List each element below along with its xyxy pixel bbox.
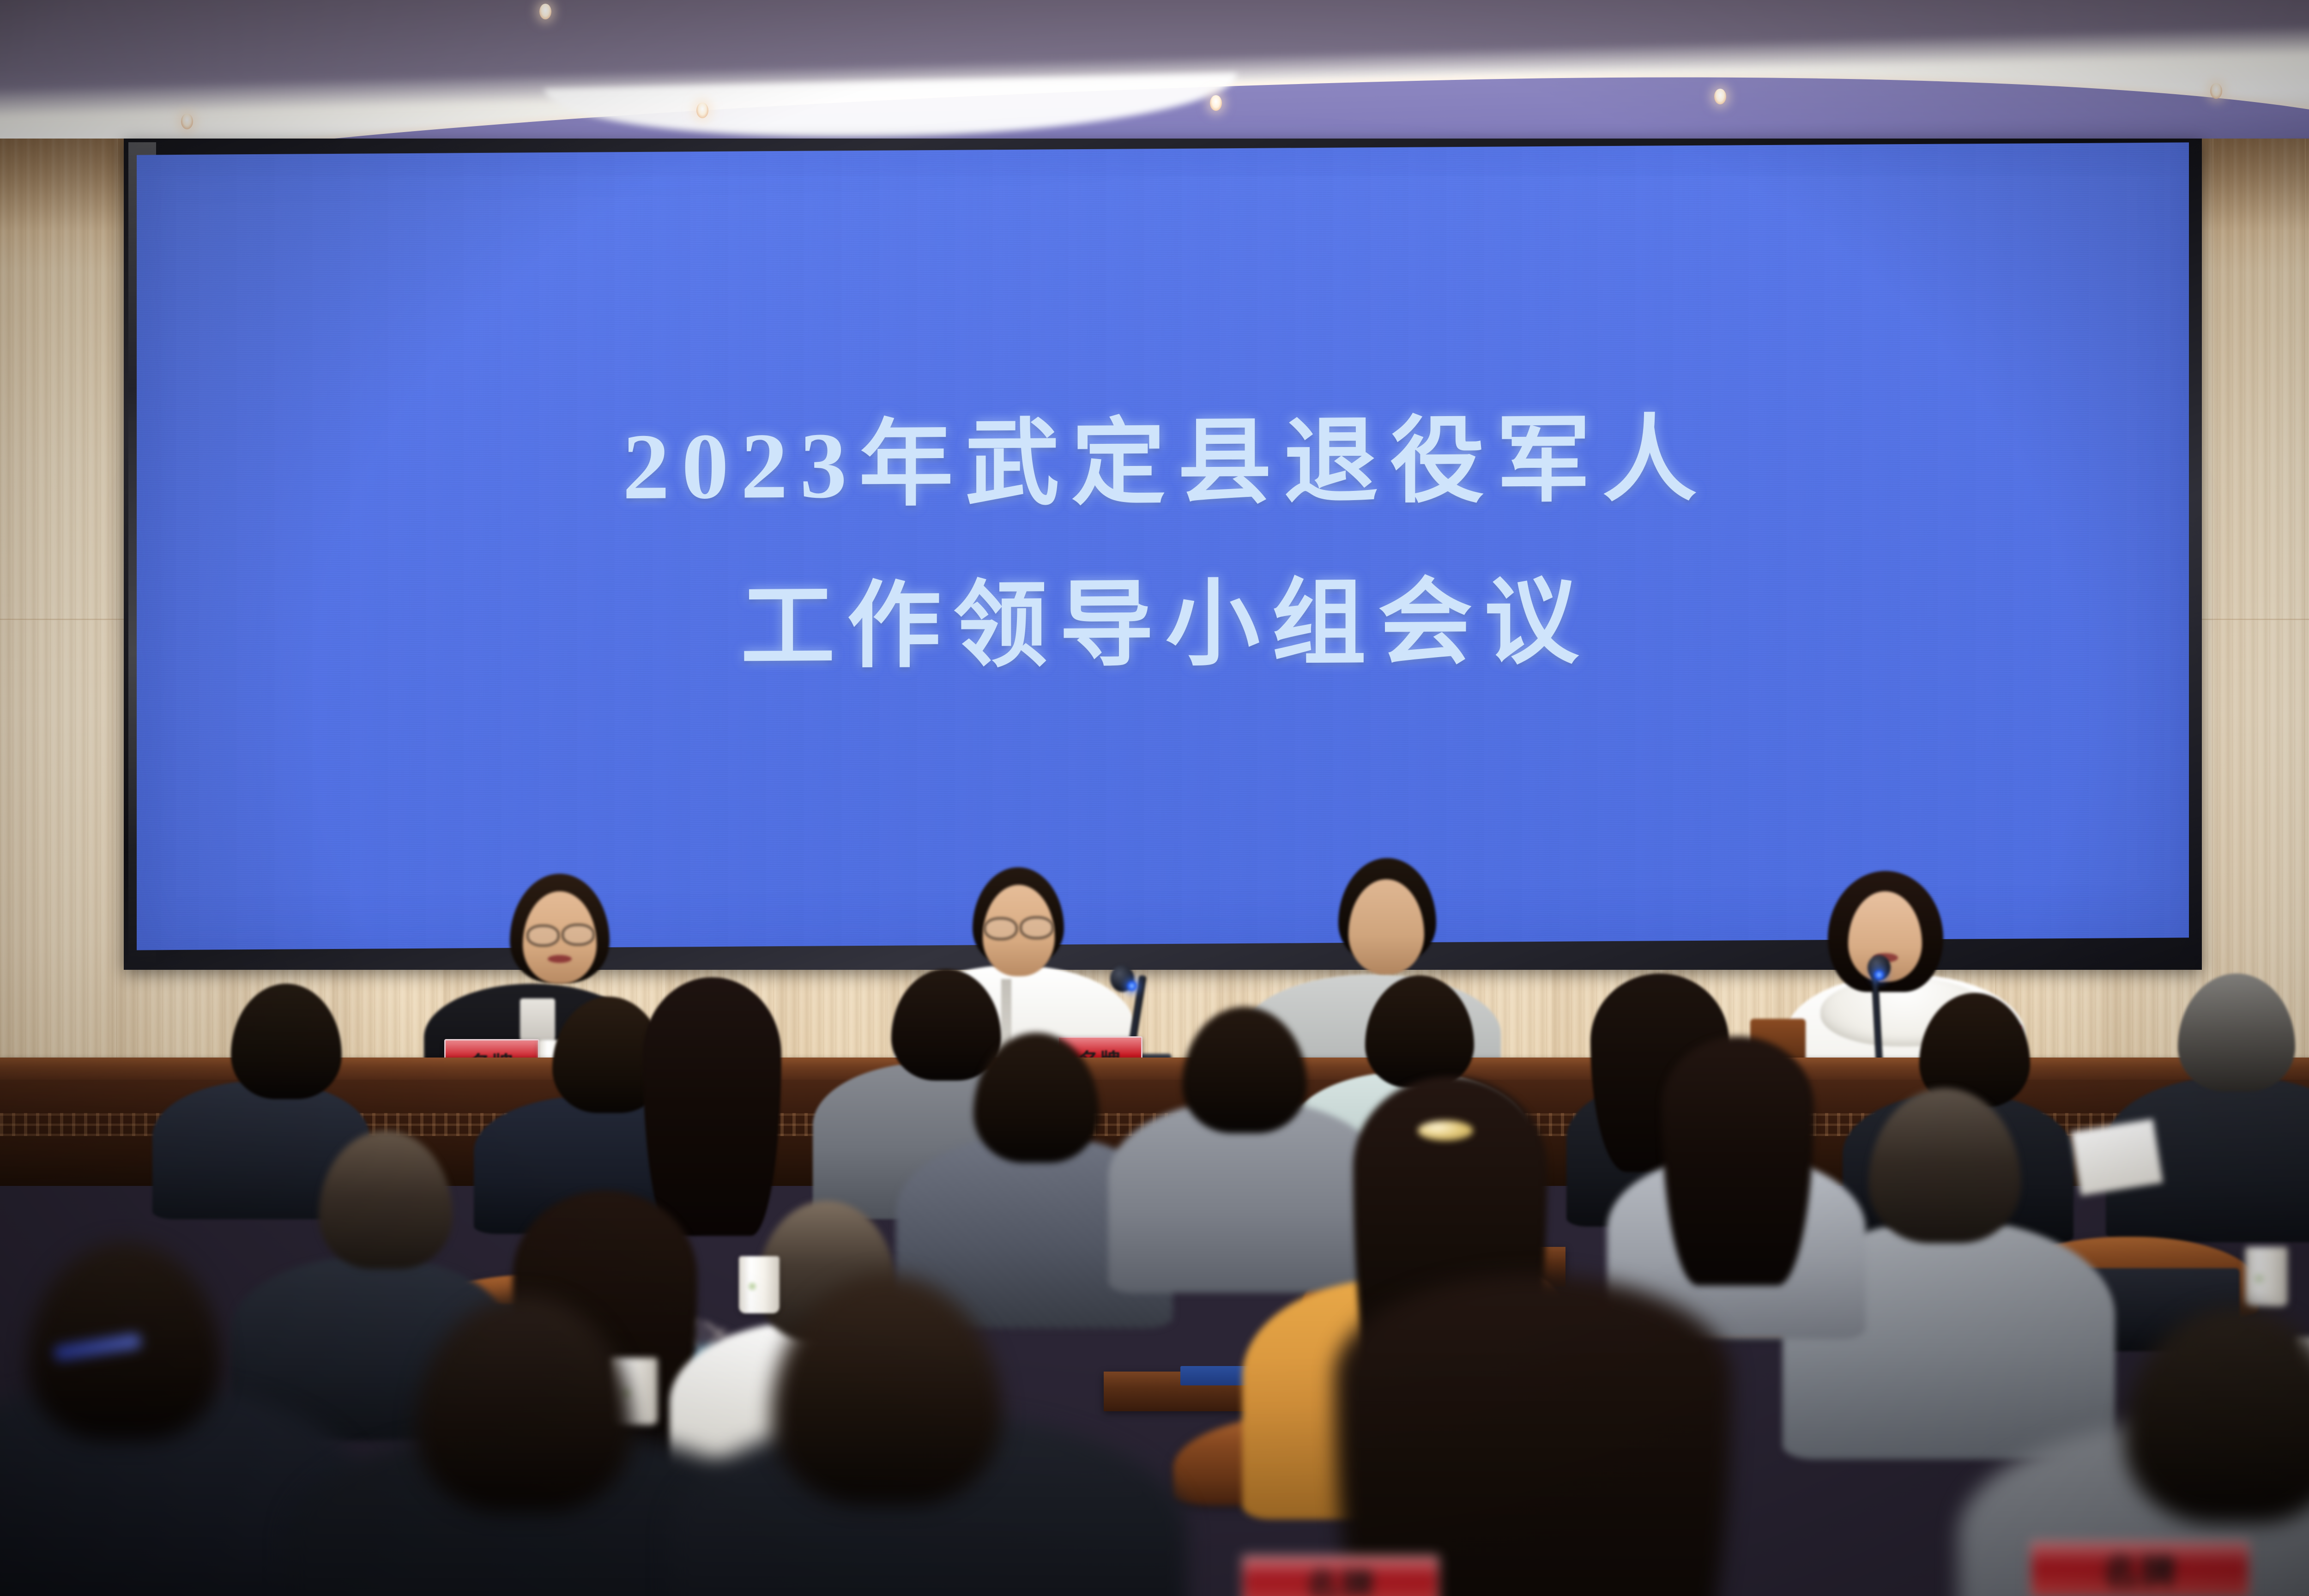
attendee-longhair — [643, 977, 781, 1236]
banner-line-1: 2023年武定县退役军人 — [623, 384, 1709, 543]
screen-banner-text: 2023年武定县退役军人 工作领导小组会议 — [137, 142, 2189, 950]
conference-room-photo: 2023年武定县退役军人 工作领导小组会议 名牌 名牌 — [0, 0, 2309, 1596]
eyeglasses-icon — [984, 917, 1018, 940]
banner-line-2: 工作领导小组会议 — [741, 546, 1590, 704]
lip — [548, 955, 572, 963]
attendee-longhair — [1662, 1036, 1814, 1286]
nameplate: 名牌 — [2030, 1541, 2250, 1596]
eyeglasses-icon — [526, 925, 560, 947]
wall-seam — [2304, 139, 2306, 1094]
nameplate-text: 名牌 — [2031, 1542, 2249, 1596]
downlight-icon — [1210, 95, 1222, 111]
hair-clip-icon — [1418, 1120, 1473, 1141]
microphone-led — [1874, 970, 1884, 980]
attendee-longhair — [1335, 1275, 1732, 1596]
eyeglasses-icon — [562, 924, 595, 946]
downlight-icon — [696, 103, 708, 118]
nameplate-text: 名牌 — [1244, 1557, 1438, 1596]
downlight-icon — [2210, 83, 2222, 99]
eyeglasses-icon — [1020, 916, 1054, 939]
microphone-led — [1127, 981, 1137, 991]
downlight-icon — [539, 4, 551, 19]
downlight-icon — [1714, 89, 1726, 104]
nameplate: 名牌 — [1242, 1555, 1439, 1596]
document — [2071, 1119, 2163, 1196]
paper-cup — [739, 1256, 780, 1313]
paper-cup — [2245, 1247, 2288, 1307]
